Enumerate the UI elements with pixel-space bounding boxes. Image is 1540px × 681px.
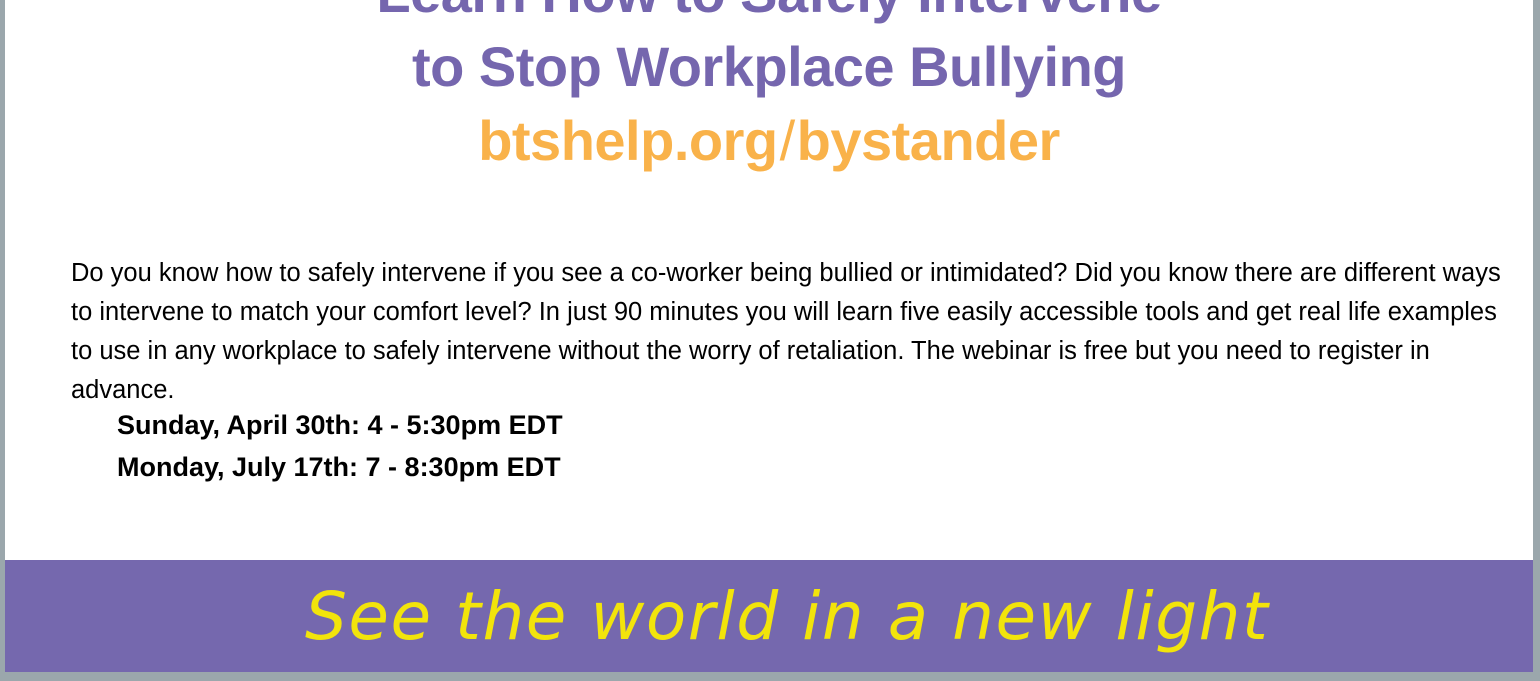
footer-band: See the world in a new light <box>5 560 1533 672</box>
footer-tagline: See the world in a new light <box>305 561 1265 672</box>
flyer-content-area: Learn How to Safely Intervene to Stop Wo… <box>5 0 1533 560</box>
session-list: Sunday, April 30th: 4 - 5:30pm EDT Monda… <box>117 404 1317 488</box>
session-item-1: Sunday, April 30th: 4 - 5:30pm EDT <box>117 404 1317 446</box>
headline-block: Learn How to Safely Intervene to Stop Wo… <box>5 0 1533 178</box>
registration-url[interactable]: btshelp.org/bystander <box>5 104 1533 178</box>
url-domain: btshelp.org <box>478 109 777 172</box>
headline-line-2: to Stop Workplace Bullying <box>5 30 1533 104</box>
url-path: bystander <box>797 109 1060 172</box>
intro-paragraph: Do you know how to safely intervene if y… <box>71 254 1519 410</box>
webinar-flyer: Learn How to Safely Intervene to Stop Wo… <box>0 0 1540 681</box>
session-item-2: Monday, July 17th: 7 - 8:30pm EDT <box>117 446 1317 488</box>
url-slash: / <box>778 109 797 172</box>
headline-line-1: Learn How to Safely Intervene <box>5 0 1533 30</box>
frame-border-right <box>1533 0 1540 681</box>
frame-border-bottom <box>0 672 1540 681</box>
